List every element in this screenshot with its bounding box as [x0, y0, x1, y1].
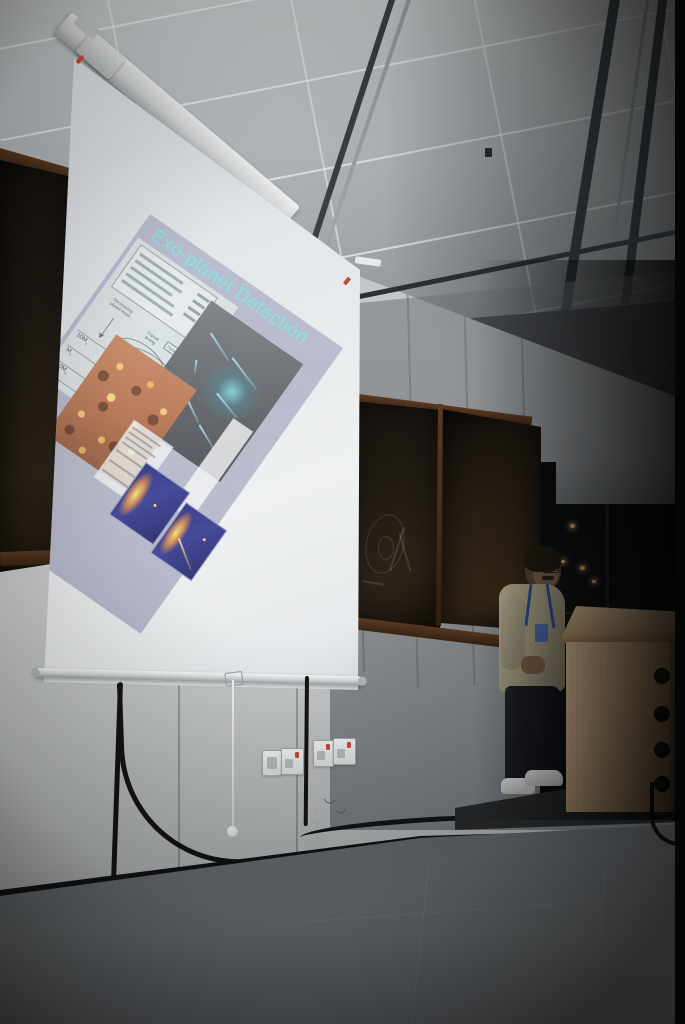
ceiling-rail-fitting	[485, 148, 492, 157]
exterior-light	[592, 580, 596, 583]
frame-right-edge	[675, 0, 685, 1024]
lecture-hall-scene: Exo-planet Detection Decreasing	[0, 0, 685, 1024]
name-badge	[535, 624, 548, 642]
window-roller-blind[interactable]	[556, 462, 685, 504]
presenter-shoe-right	[525, 770, 563, 786]
podium-port-1[interactable]	[654, 668, 670, 684]
wall-socket-4[interactable]	[333, 738, 356, 765]
presenter-moustache	[542, 576, 554, 580]
exterior-light	[570, 524, 575, 528]
podium-port-2[interactable]	[654, 706, 670, 722]
glasses-icon	[543, 565, 559, 573]
podium-port-3[interactable]	[654, 742, 670, 758]
presenter-hands	[521, 656, 545, 674]
